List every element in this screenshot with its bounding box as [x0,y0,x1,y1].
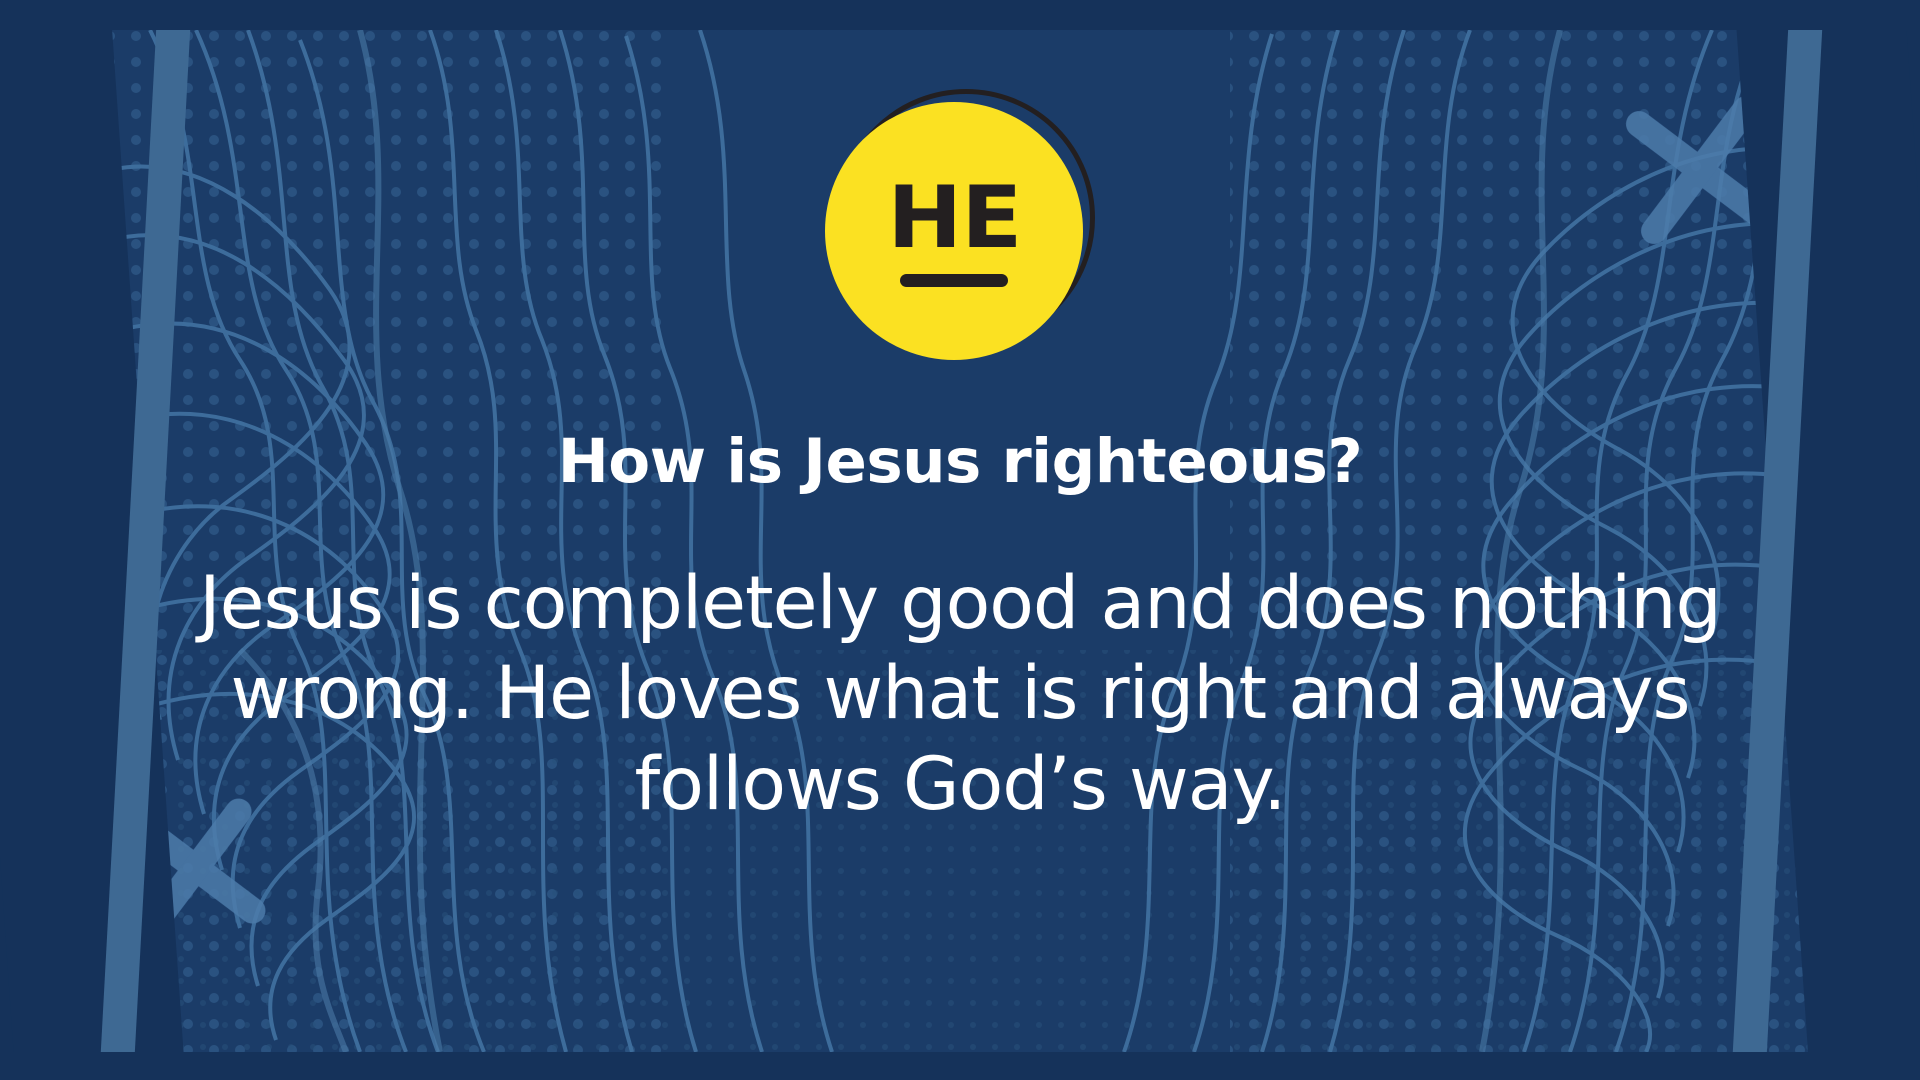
body-line: wrong. He loves what is right and always [180,649,1740,740]
body-copy: Jesus is completely good and does nothin… [180,559,1740,831]
slide-root: HE How is Jesus righteous? Jesus is comp… [0,0,1920,1080]
logo-letters: HE [887,175,1021,261]
logo-mark: HE [825,102,1083,360]
page-title: How is Jesus righteous? [558,431,1363,492]
body-line: Jesus is completely good and does nothin… [180,559,1740,650]
body-line: follows God’s way. [180,740,1740,831]
logo-underline-bar-icon [900,274,1008,287]
slide-content: HE How is Jesus righteous? Jesus is comp… [0,0,1920,1080]
he-logo: HE [810,85,1110,385]
